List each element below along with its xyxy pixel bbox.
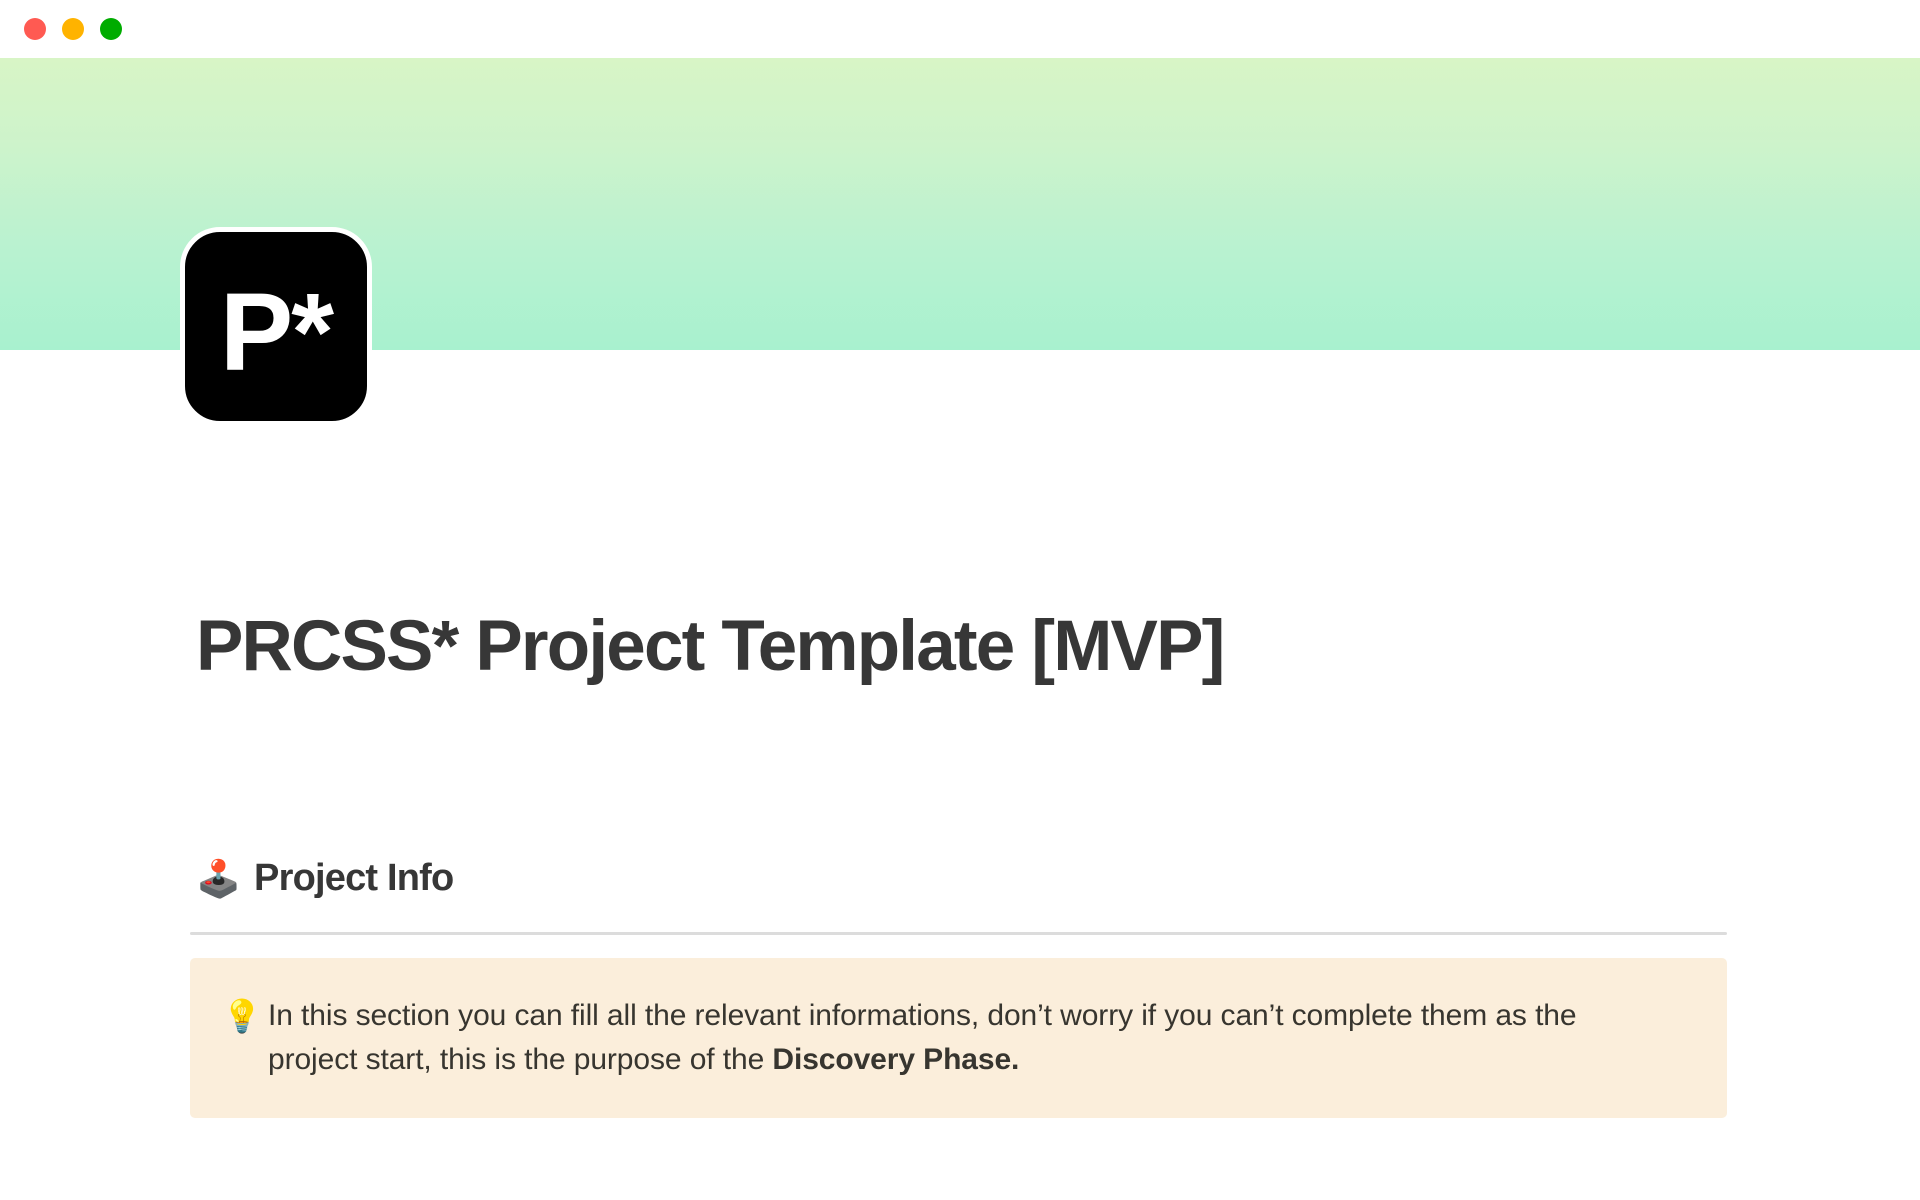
page-icon-glyph: P* xyxy=(220,278,332,388)
section-heading-label: Project Info xyxy=(254,858,453,900)
info-callout-text-bold: Discovery Phase. xyxy=(772,1043,1019,1076)
joystick-emoji: 🕹️ xyxy=(196,861,240,897)
info-callout[interactable]: 💡 In this section you can fill all the r… xyxy=(190,958,1727,1118)
window-close-button[interactable] xyxy=(24,18,46,40)
window-maximize-button[interactable] xyxy=(100,18,122,40)
info-callout-text: In this section you can fill all the rel… xyxy=(268,994,1668,1082)
page-title[interactable]: PRCSS* Project Template [MVP] xyxy=(196,608,1224,686)
lightbulb-emoji: 💡 xyxy=(222,994,268,1036)
page-icon[interactable]: P* xyxy=(180,227,372,426)
section-heading-project-info[interactable]: 🕹️ Project Info xyxy=(196,858,453,900)
window-minimize-button[interactable] xyxy=(62,18,84,40)
page-content: P* PRCSS* Project Template [MVP] 🕹️ Proj… xyxy=(0,0,1920,1200)
section-divider xyxy=(190,932,1727,935)
window-traffic-lights xyxy=(24,18,122,40)
window-title-bar xyxy=(0,0,1920,58)
